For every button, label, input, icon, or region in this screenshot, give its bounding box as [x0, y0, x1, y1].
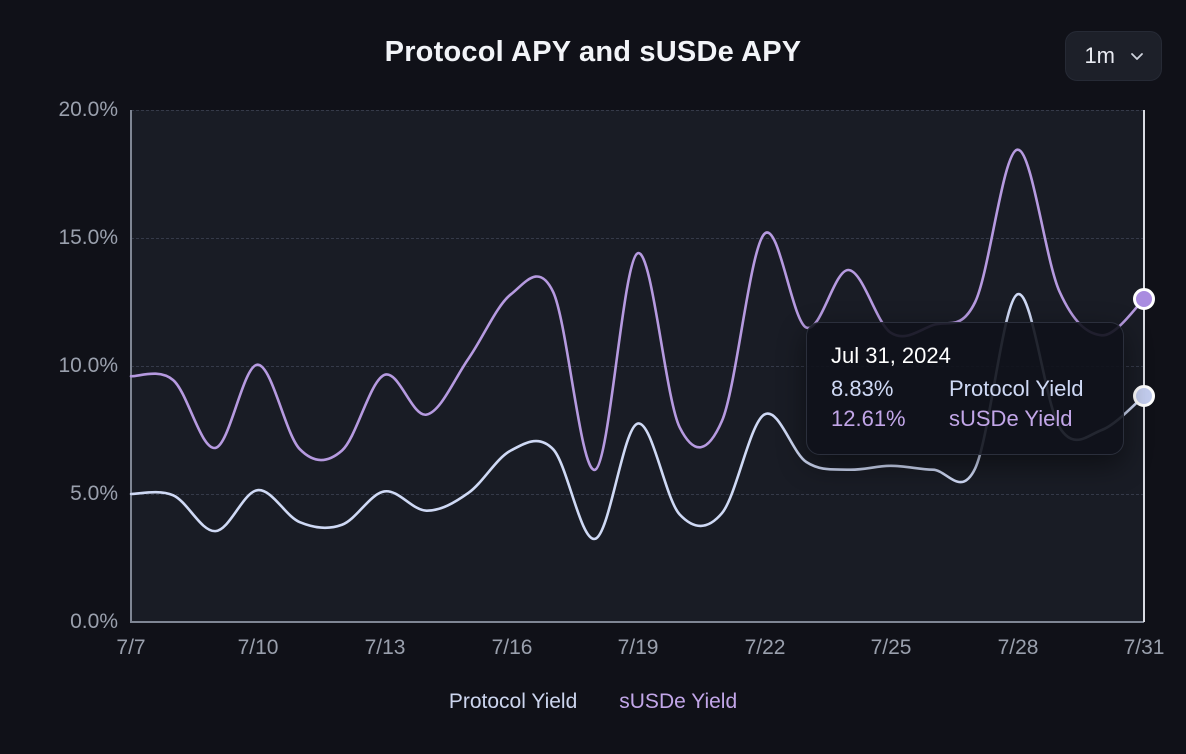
gridline-5 [131, 494, 1144, 495]
y-tick-label: 10.0% [58, 354, 118, 378]
gridline-15 [131, 238, 1144, 239]
tooltip-label-susde: sUSDe Yield [949, 406, 1073, 432]
tooltip-value-protocol: 8.83% [831, 376, 931, 402]
y-tick-label: 0.0% [70, 610, 118, 634]
tooltip-label-protocol: Protocol Yield [949, 376, 1084, 402]
y-axis-ticks: 20.0% 15.0% 10.0% 5.0% 0.0% [0, 0, 118, 754]
tooltip-row-protocol: 8.83% Protocol Yield [831, 376, 1099, 402]
x-tick-label: 7/31 [1124, 636, 1165, 660]
x-tick-label: 7/19 [618, 636, 659, 660]
x-tick-label: 7/13 [365, 636, 406, 660]
tooltip-value-susde: 12.61% [831, 406, 931, 432]
marker-protocol-yield[interactable] [1133, 385, 1155, 407]
y-tick-label: 15.0% [58, 226, 118, 250]
x-tick-label: 7/16 [492, 636, 533, 660]
legend-item-protocol-yield[interactable]: Protocol Yield [449, 690, 577, 714]
x-tick-label: 7/10 [238, 636, 279, 660]
crosshair-line [1143, 110, 1145, 622]
chart-plot[interactable]: 20.0% 15.0% 10.0% 5.0% 0.0% 7/7 7/10 7/1… [0, 0, 1186, 754]
tooltip-row-susde: 12.61% sUSDe Yield [831, 406, 1099, 432]
tooltip-date: Jul 31, 2024 [831, 343, 1099, 369]
x-tick-label: 7/22 [745, 636, 786, 660]
y-axis-line [130, 110, 132, 623]
chart-page: Protocol APY and sUSDe APY 1m 20.0% 15.0… [0, 0, 1186, 754]
tooltip: Jul 31, 2024 8.83% Protocol Yield 12.61%… [806, 322, 1124, 455]
x-axis-line [130, 621, 1144, 623]
legend-item-susde-yield[interactable]: sUSDe Yield [619, 690, 737, 714]
gridline-20 [131, 110, 1144, 111]
x-tick-label: 7/25 [871, 636, 912, 660]
x-tick-label: 7/7 [116, 636, 145, 660]
marker-susde-yield[interactable] [1133, 288, 1155, 310]
y-tick-label: 5.0% [70, 482, 118, 506]
y-tick-label: 20.0% [58, 98, 118, 122]
legend: Protocol Yield sUSDe Yield [0, 690, 1186, 714]
x-tick-label: 7/28 [998, 636, 1039, 660]
